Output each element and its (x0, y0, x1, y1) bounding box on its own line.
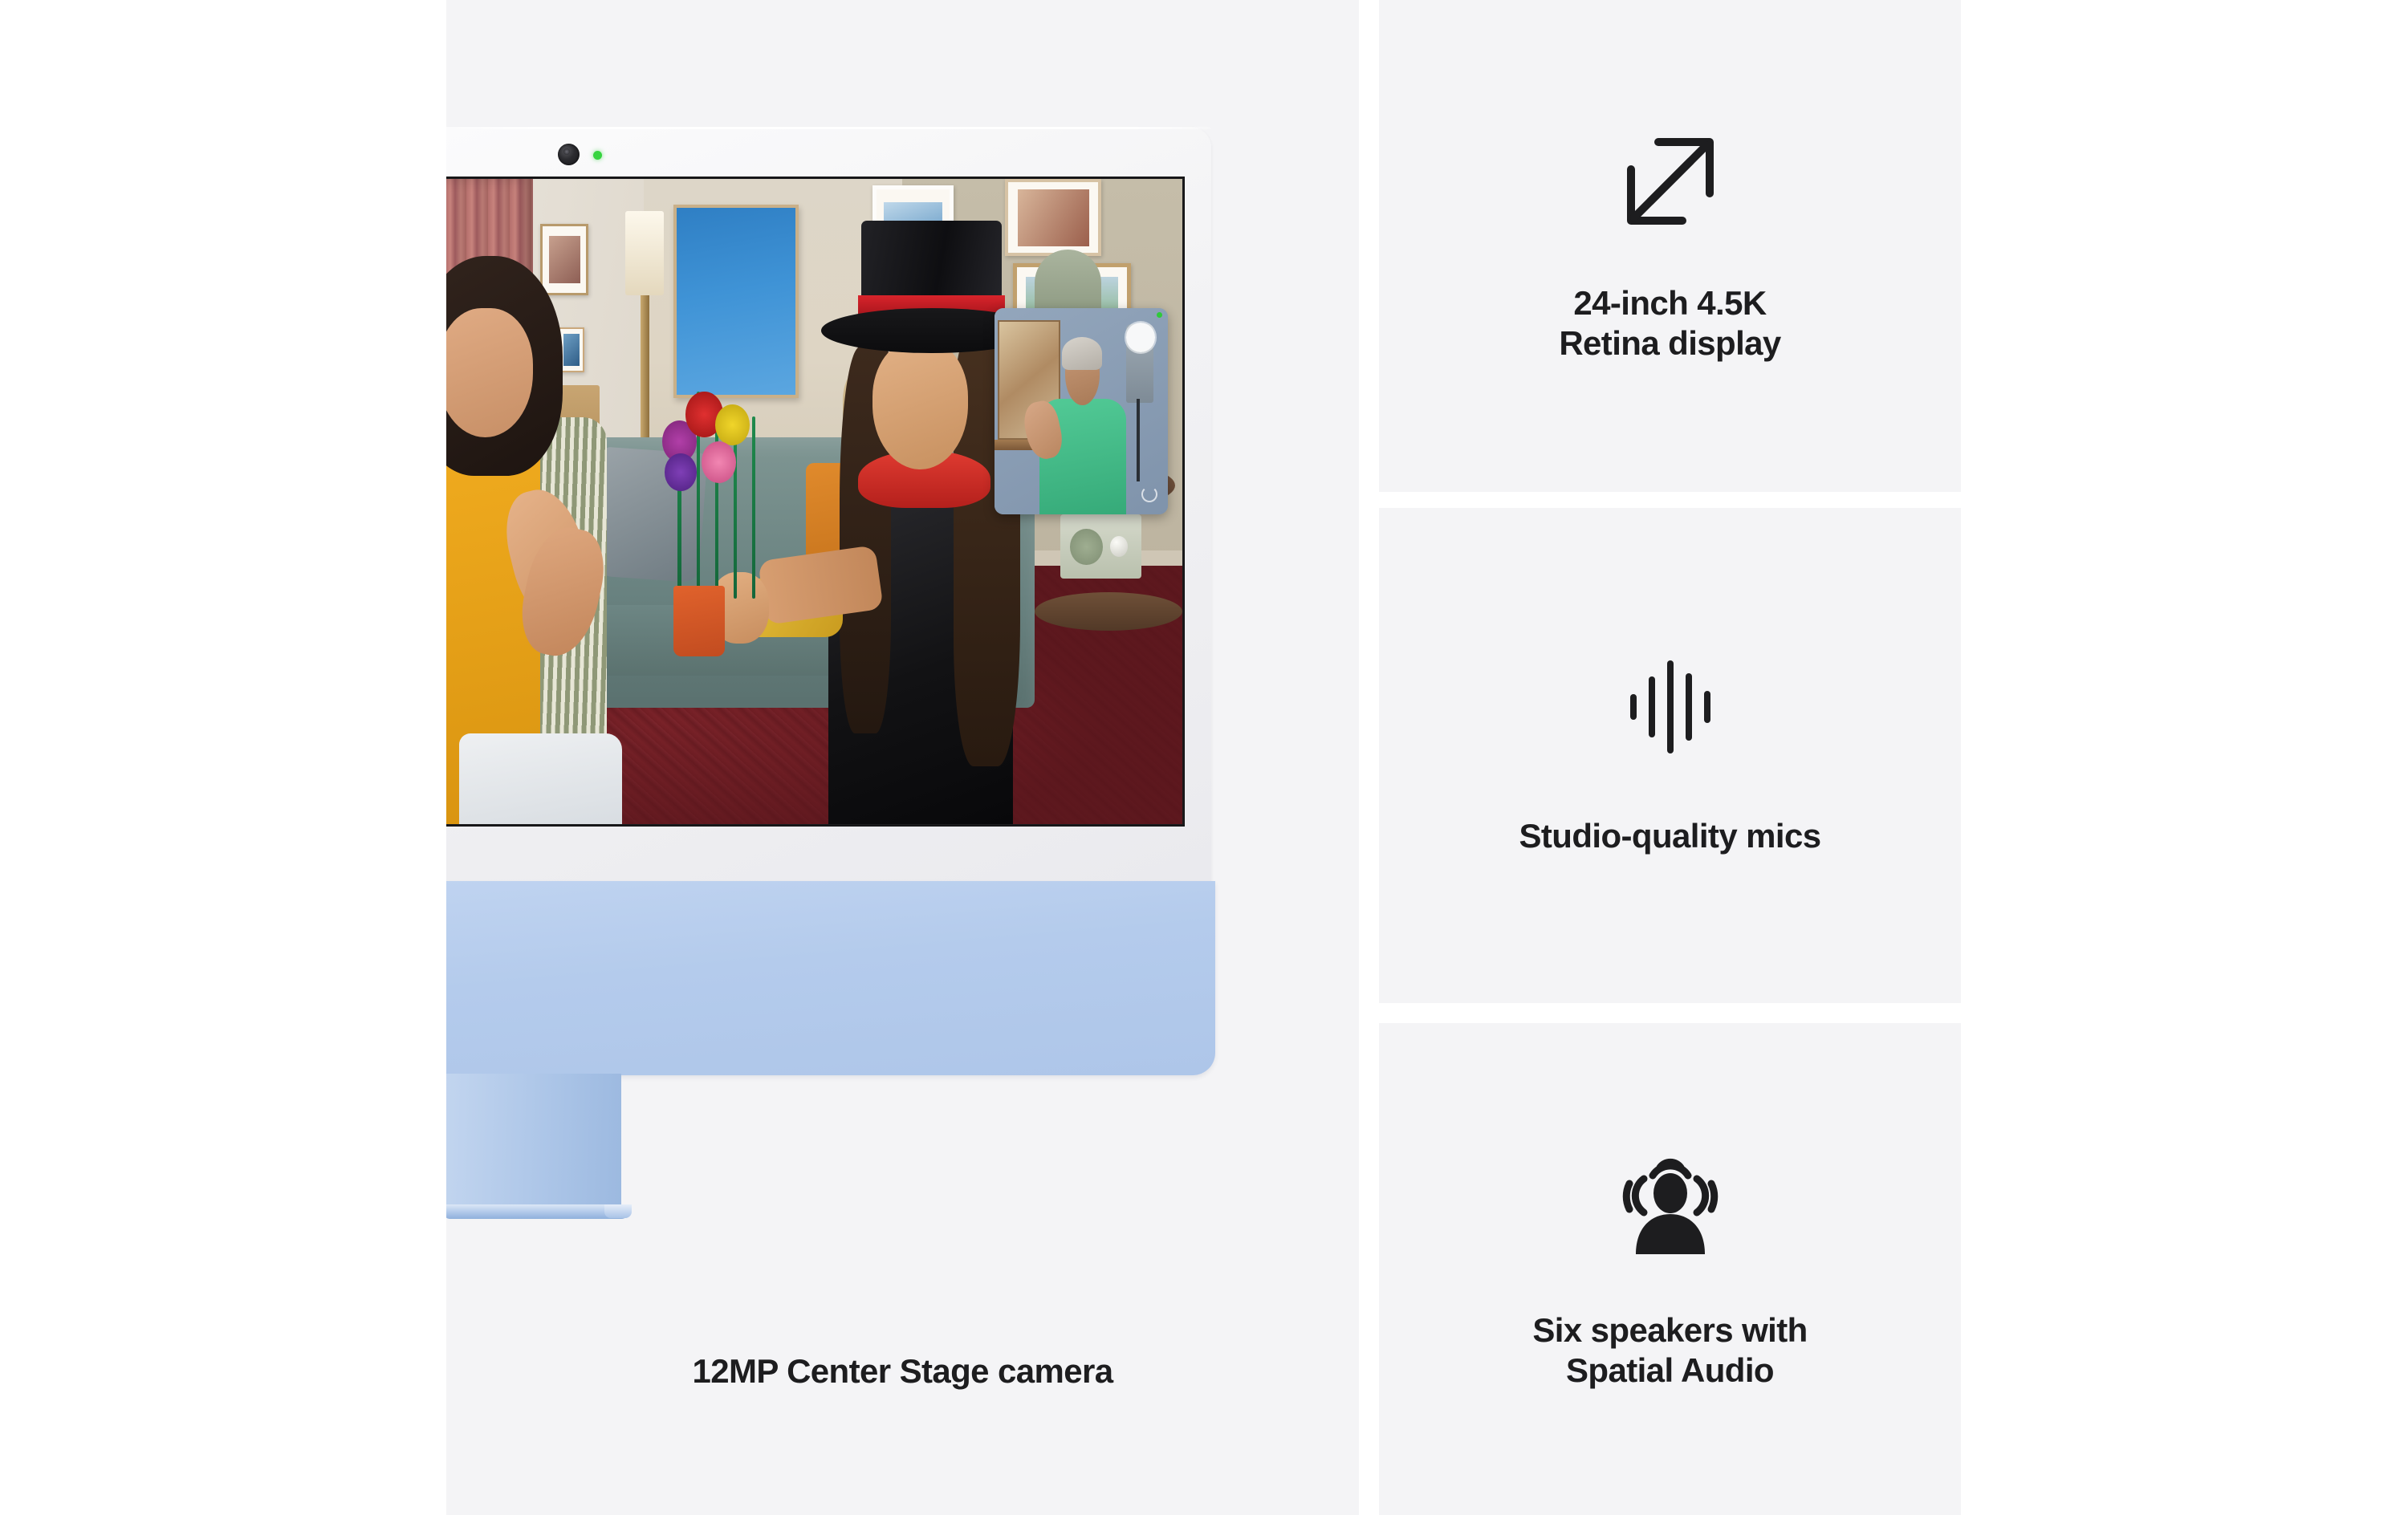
feature-card-mics-label: Studio-quality mics (1519, 816, 1821, 856)
facetime-pip-window[interactable] (995, 308, 1168, 514)
feature-label-line-2: Retina display (1559, 323, 1780, 364)
feature-card-speakers-label: Six speakers with Spatial Audio (1532, 1310, 1807, 1390)
living-room-scene (446, 179, 1182, 824)
feature-card-display: 24-inch 4.5K Retina display (1379, 0, 1961, 492)
pip-lamp-pole (1137, 399, 1140, 481)
wall-frame (1005, 179, 1100, 256)
camera-icon (558, 144, 580, 165)
floor-lamp-shade (625, 211, 664, 295)
feature-card-display-label: 24-inch 4.5K Retina display (1559, 283, 1780, 363)
pip-led-indicator-icon (1157, 312, 1162, 318)
imac-screen (446, 177, 1185, 827)
feature-label-line-1: Six speakers with (1532, 1310, 1807, 1351)
camera-led-indicator-icon (593, 151, 602, 160)
feature-label-line-1: 24-inch 4.5K (1559, 283, 1780, 323)
adult-pants (459, 733, 621, 824)
diagonal-arrows-expand-icon (1618, 129, 1723, 234)
imac-chin (446, 881, 1215, 1075)
imac-stand-neck (446, 1074, 621, 1206)
imac-stand-foot-tip (604, 1204, 632, 1218)
screen-content (446, 179, 1182, 824)
radio-knob (1110, 536, 1128, 557)
pip-person-hair (1062, 337, 1102, 370)
audio-waveform-icon (1619, 656, 1722, 758)
rotate-camera-icon[interactable] (1141, 486, 1157, 502)
page-root: 12MP Center Stage camera 24-inch 4.5K Re… (0, 0, 2408, 1515)
camera-feature-caption: 12MP Center Stage camera (446, 1352, 1359, 1391)
blue-artwork (673, 205, 799, 398)
imac-product-image (446, 127, 1224, 1242)
spatial-audio-person-icon (1610, 1148, 1731, 1261)
child-face (872, 340, 968, 469)
vintage-radio (1060, 514, 1141, 579)
camera-feature-panel: 12MP Center Stage camera (446, 0, 1359, 1515)
feature-card-speakers: Six speakers with Spatial Audio (1379, 1023, 1961, 1515)
feature-card-mics: Studio-quality mics (1379, 508, 1961, 1003)
feature-label-line-1: Studio-quality mics (1519, 816, 1821, 856)
feature-label-line-2: Spatial Audio (1532, 1351, 1807, 1391)
wall-frame (559, 327, 584, 372)
flower-pot (673, 586, 725, 656)
side-table-lower (1035, 592, 1182, 631)
imac-stand-foot (446, 1204, 629, 1219)
paper-flowers (651, 392, 783, 598)
capture-button-icon[interactable] (1126, 323, 1156, 352)
feature-cards-column: 24-inch 4.5K Retina display Studio-quali… (1379, 0, 1961, 1515)
wall-frame (540, 224, 588, 294)
